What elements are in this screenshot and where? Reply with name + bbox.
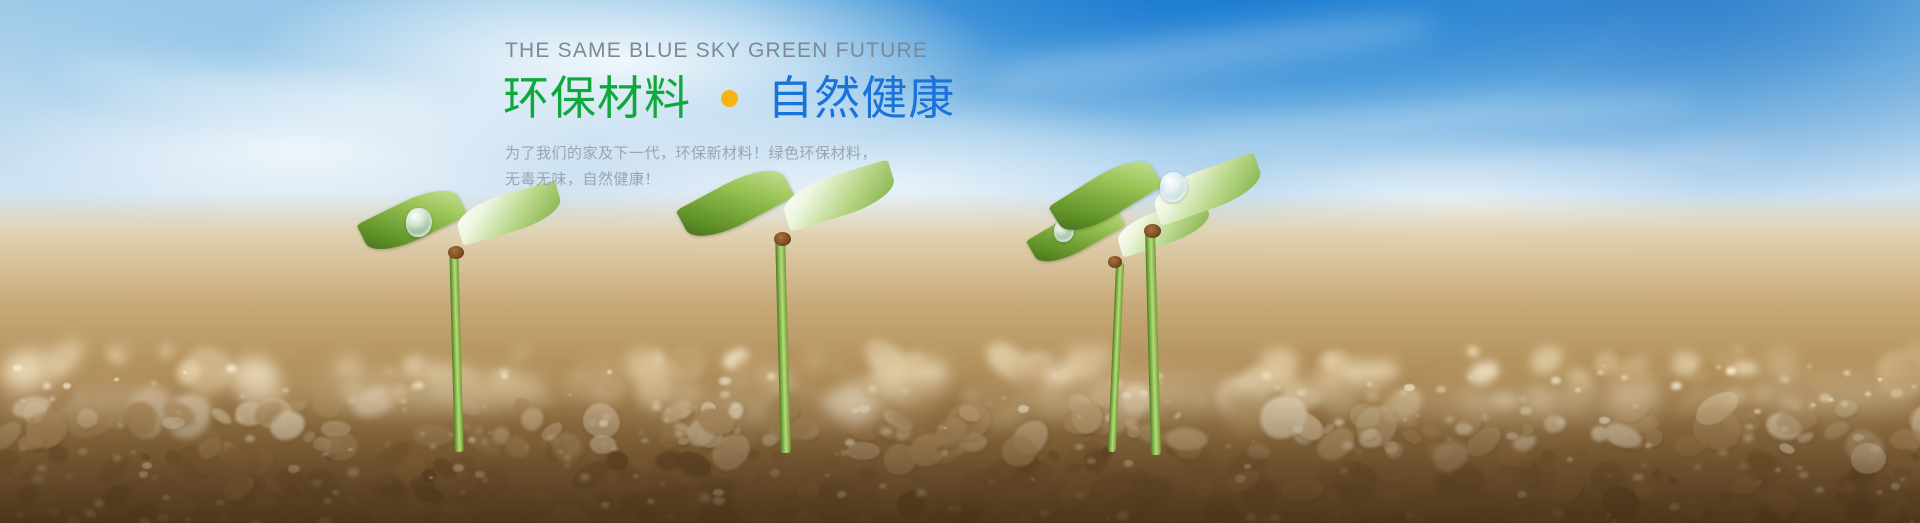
soil-speckle xyxy=(43,383,51,389)
soil-clod xyxy=(1349,398,1405,454)
soil-clod xyxy=(210,436,250,470)
soil-shadow xyxy=(0,373,1920,523)
soil-clod xyxy=(1364,358,1399,382)
soil-clod xyxy=(1908,442,1920,455)
soil-clod xyxy=(1744,446,1778,474)
soil-speckle xyxy=(660,483,665,487)
soil-speckle xyxy=(1621,375,1628,380)
soil-clod xyxy=(871,417,899,443)
soil-speckle xyxy=(568,394,572,397)
soil-speckle xyxy=(1669,503,1680,511)
soil-clod xyxy=(370,467,409,503)
soil-speckle xyxy=(1807,365,1812,368)
soil-speckle xyxy=(240,395,245,399)
soil-speckle xyxy=(1716,365,1721,369)
soil-speckle xyxy=(1671,382,1682,390)
soil-speckle xyxy=(1567,457,1573,461)
soil-clod xyxy=(1427,441,1453,460)
soil-clod xyxy=(220,471,259,506)
soil-speckle xyxy=(403,408,406,410)
soil-clod xyxy=(1365,389,1378,402)
soil-clod xyxy=(1531,510,1565,523)
banner-description-line-1: 为了我们的家及下一代，环保新材料！绿色环保材料， xyxy=(505,140,1023,166)
soil-speckle xyxy=(400,399,407,404)
soil-clod xyxy=(1364,383,1390,401)
soil-speckle xyxy=(868,386,877,393)
soil-clod xyxy=(20,398,50,426)
soil-clod xyxy=(160,397,197,428)
soil-speckle xyxy=(332,490,339,495)
soil-clod xyxy=(731,344,789,398)
soil-speckle xyxy=(1642,464,1646,467)
soil-clod xyxy=(1774,363,1799,387)
soil-clod xyxy=(1321,380,1336,394)
soil-clod xyxy=(1552,371,1603,420)
soil-speckle xyxy=(633,474,638,478)
soil-clod xyxy=(907,491,930,514)
soil-clod xyxy=(172,338,237,399)
soil-clod xyxy=(1806,518,1829,523)
soil-clod xyxy=(332,352,364,381)
soil-clod xyxy=(309,389,344,423)
soil-clod xyxy=(1446,459,1487,499)
soil-clod xyxy=(883,443,917,475)
soil-speckle xyxy=(719,377,731,385)
soil-clod xyxy=(1003,357,1052,402)
soil-clod xyxy=(389,384,409,403)
soil-speckle xyxy=(226,365,237,373)
soil-speckle xyxy=(1404,384,1415,392)
soil-speckle xyxy=(1139,390,1149,397)
soil-speckle xyxy=(1401,391,1406,394)
soil-clod xyxy=(855,509,873,523)
soil-clod xyxy=(190,415,201,424)
soil-clod xyxy=(643,479,689,521)
soil-clod xyxy=(1283,348,1322,383)
soil-clod xyxy=(1197,492,1243,523)
soil-clod xyxy=(1175,439,1222,481)
soil-speckle xyxy=(713,489,724,497)
soil-speckle xyxy=(881,428,892,436)
soil-speckle xyxy=(347,468,359,476)
soil-speckle xyxy=(63,383,71,389)
soil-speckle xyxy=(732,403,739,408)
soil-clod xyxy=(94,451,133,488)
soil-clod xyxy=(821,452,840,468)
soil-clod xyxy=(1368,442,1419,492)
soil-clod xyxy=(255,394,275,409)
soil-clod xyxy=(1535,440,1587,491)
soil-clod xyxy=(1343,516,1388,523)
soil-clod xyxy=(542,441,567,462)
soil-speckle xyxy=(607,370,612,374)
soil-clod xyxy=(156,341,178,361)
soil-clod xyxy=(1099,445,1113,459)
soil-clod xyxy=(240,363,292,409)
soil-speckle xyxy=(1810,403,1816,407)
soil-clod xyxy=(1046,348,1070,372)
soil-clod xyxy=(156,492,199,523)
soil-clod xyxy=(778,347,796,361)
soil-clod xyxy=(103,345,128,368)
soil-speckle xyxy=(692,406,696,409)
soil-speckle xyxy=(1878,378,1881,380)
soil-clod xyxy=(1379,409,1403,425)
soil-clod xyxy=(1882,452,1920,498)
soil-speckle xyxy=(1334,419,1344,426)
soil-clod xyxy=(1093,373,1137,411)
soil-speckle xyxy=(1367,382,1373,386)
soil-speckle xyxy=(1553,510,1564,517)
soil-speckle xyxy=(713,497,724,505)
soil-clod xyxy=(926,431,967,468)
soil-clod xyxy=(1466,345,1480,359)
soil-clod xyxy=(1653,457,1673,476)
soil-clod xyxy=(1078,444,1112,477)
soil-speckle xyxy=(1122,392,1132,399)
soil-speckle xyxy=(324,498,332,504)
soil-clod xyxy=(264,502,302,523)
soil-clod xyxy=(1016,453,1039,472)
soil-clod xyxy=(1173,411,1183,420)
soil-speckle xyxy=(526,494,529,496)
soil-clod xyxy=(30,368,82,419)
soil-clod xyxy=(1721,387,1743,404)
soil-clod xyxy=(1289,407,1329,446)
soil-clod xyxy=(749,495,758,502)
soil-clod xyxy=(1087,414,1100,426)
soil-clod xyxy=(495,518,545,523)
soil-speckle xyxy=(558,450,563,453)
soil-clod xyxy=(530,508,573,523)
soil-clod xyxy=(1908,500,1920,523)
soil-clod xyxy=(695,404,738,440)
soil-clod xyxy=(289,485,302,497)
soil-clod xyxy=(902,349,927,373)
soil-clod xyxy=(1481,462,1501,481)
soil-clod xyxy=(1163,398,1173,406)
soil-speckle xyxy=(934,504,938,507)
soil-clod xyxy=(209,515,267,523)
soil-clod xyxy=(1510,391,1548,423)
soil-speckle xyxy=(1718,449,1728,456)
soil-clod xyxy=(1731,360,1759,376)
soil-clod xyxy=(1465,357,1503,389)
soil-clod xyxy=(817,476,851,509)
soil-speckle xyxy=(459,490,466,495)
soil-clod xyxy=(1165,443,1182,459)
soil-clod xyxy=(638,446,680,477)
soil-clod xyxy=(443,505,459,514)
soil-clod xyxy=(955,402,982,426)
soil-clod xyxy=(451,503,466,515)
soil-clod xyxy=(1389,508,1412,523)
soil-speckle xyxy=(639,431,643,434)
soil-speckle xyxy=(1782,516,1786,518)
soil-clod xyxy=(254,492,277,512)
soil-speckle xyxy=(664,418,669,421)
soil-clod xyxy=(55,508,64,515)
soil-clod xyxy=(632,456,654,478)
soil-speckle xyxy=(1246,514,1257,522)
soil-clod xyxy=(705,427,757,477)
soil-clod xyxy=(1692,371,1712,383)
soil-speckle xyxy=(959,450,964,453)
soil-clod xyxy=(349,381,402,421)
soil-clod xyxy=(968,385,1030,435)
soil-speckle xyxy=(429,476,433,479)
soil-speckle xyxy=(1865,392,1872,397)
soil-clod xyxy=(621,495,636,509)
soil-speckle xyxy=(1226,445,1231,448)
orange-dot-icon xyxy=(721,90,738,107)
soil-speckle xyxy=(1575,388,1581,392)
soil-clod xyxy=(1673,434,1708,458)
soil-clod xyxy=(1589,423,1611,443)
soil-clod xyxy=(30,406,39,411)
soil-clod xyxy=(431,499,476,523)
soil-clod xyxy=(235,402,266,425)
soil-clod xyxy=(121,460,148,486)
soil-clod xyxy=(795,422,820,438)
soil-clod xyxy=(1451,386,1497,422)
soil-clod xyxy=(48,339,87,375)
soil-clod xyxy=(1061,337,1118,388)
soil-clod xyxy=(568,455,614,494)
soil-clod xyxy=(418,360,446,385)
soil-speckle xyxy=(1052,373,1057,376)
soil-clod xyxy=(1621,430,1635,442)
soil-clod xyxy=(408,473,439,499)
soil-clod xyxy=(823,504,842,520)
soil-clod xyxy=(65,404,117,441)
soil-clod xyxy=(23,408,69,451)
soil-clod xyxy=(1209,502,1228,514)
banner-description-line-2: 无毒无味，自然健康！ xyxy=(505,166,1023,192)
soil-clod xyxy=(1344,460,1357,470)
soil-speckle xyxy=(502,374,508,378)
soil-clod xyxy=(223,348,284,407)
soil-clod xyxy=(1558,505,1586,523)
soil-clod xyxy=(179,342,237,399)
soil-clod xyxy=(694,420,727,452)
soil-clod xyxy=(927,509,952,523)
soil-clod xyxy=(1843,514,1869,523)
soil-clod xyxy=(398,351,427,379)
soil-clod xyxy=(1099,470,1136,494)
soil-clod xyxy=(1911,452,1920,458)
soil-speckle xyxy=(1754,409,1761,414)
soil-clod xyxy=(1162,423,1207,465)
soil-speckle xyxy=(177,411,180,413)
soil-clod xyxy=(1731,369,1747,383)
soil-speckle xyxy=(312,480,322,487)
soil-clod xyxy=(1604,358,1651,401)
soil-speckle xyxy=(33,475,44,483)
soil-clod xyxy=(1044,504,1057,515)
soil-clod xyxy=(393,503,429,523)
soil-clod xyxy=(944,400,994,443)
soil-clod xyxy=(414,484,446,506)
soil-speckle xyxy=(602,443,607,446)
soil-clod xyxy=(158,384,222,447)
soil-clod xyxy=(777,481,794,498)
soil-clod xyxy=(1752,500,1798,523)
soil-clod xyxy=(517,403,548,434)
soil-speckle xyxy=(1645,443,1652,448)
soil-clod xyxy=(1192,517,1231,523)
soil-clod xyxy=(119,395,162,438)
soil-clod xyxy=(1683,355,1692,363)
soil-clod xyxy=(1842,477,1860,494)
soil-clod xyxy=(419,467,437,484)
soil-clod xyxy=(283,451,318,483)
soil-speckle xyxy=(565,456,571,460)
soil-speckle xyxy=(543,443,546,445)
soil-speckle xyxy=(197,446,202,449)
soil-speckle xyxy=(599,420,608,426)
soil-speckle xyxy=(1891,389,1903,397)
soil-speckle xyxy=(1087,458,1096,464)
soil-clod xyxy=(1544,414,1567,434)
soil-clod xyxy=(559,360,569,370)
soil-clod xyxy=(1915,346,1920,364)
soil-clod xyxy=(1361,426,1380,442)
soil-clod xyxy=(250,395,285,428)
soil-clod xyxy=(1718,356,1734,370)
soil-clod xyxy=(1414,370,1478,432)
soil-clod xyxy=(908,428,934,448)
soil-clod xyxy=(1595,509,1607,520)
soil-clod xyxy=(931,496,946,510)
soil-speckle xyxy=(1781,426,1789,432)
soil-clod xyxy=(1672,356,1699,377)
soil-clod xyxy=(384,367,397,377)
soil-clod xyxy=(1604,414,1648,454)
soil-speckle xyxy=(601,502,610,508)
soil-speckle xyxy=(1156,374,1163,379)
soil-speckle xyxy=(499,369,509,376)
soil-clod xyxy=(1389,499,1426,523)
soil-clod xyxy=(294,511,333,523)
soil-clod xyxy=(1584,453,1633,501)
soil-clod xyxy=(1776,407,1819,433)
soil-clod xyxy=(1834,399,1859,419)
soil-speckle xyxy=(1356,450,1362,454)
soil-clod xyxy=(1725,386,1750,408)
soil-clod xyxy=(577,396,627,446)
soil-clod xyxy=(1894,491,1920,519)
soil-clod xyxy=(163,447,182,466)
soil-clod xyxy=(1400,426,1424,448)
soil-speckle xyxy=(1748,435,1753,438)
soil-speckle xyxy=(654,401,659,405)
soil-speckle xyxy=(1891,483,1900,489)
soil-clod xyxy=(224,468,269,511)
soil-speckle xyxy=(602,414,612,421)
soil-clod xyxy=(888,376,914,402)
soil-clod xyxy=(90,481,103,494)
soil-clod xyxy=(882,389,909,415)
soil-speckle xyxy=(1745,424,1755,431)
soil-speckle xyxy=(835,453,838,455)
soil-speckle xyxy=(1623,433,1628,436)
soil-clod xyxy=(1751,386,1774,404)
soil-clod xyxy=(742,466,761,484)
soil-clod xyxy=(1348,401,1383,430)
soil-clod xyxy=(768,412,803,443)
soil-clod xyxy=(867,355,908,394)
soil-clod xyxy=(1564,364,1595,392)
soil-clod xyxy=(1803,377,1851,409)
soil-clod xyxy=(357,453,400,492)
soil-clod xyxy=(1663,516,1690,523)
soil-clod xyxy=(530,485,559,513)
soil-blur-band xyxy=(0,363,1920,483)
soil-clod xyxy=(1046,448,1062,462)
soil-speckle xyxy=(1743,435,1753,442)
soil-clod xyxy=(1615,363,1630,378)
soil-clod xyxy=(1265,356,1308,396)
headline-green-text: 环保材料 xyxy=(503,71,691,125)
soil-speckle xyxy=(1446,417,1453,422)
soil-clod xyxy=(1869,503,1917,523)
soil-speckle xyxy=(1844,371,1850,375)
soil-speckle xyxy=(475,471,485,478)
soil-speckle xyxy=(475,427,483,433)
soil-clod xyxy=(404,497,438,521)
soil-speckle xyxy=(67,475,73,479)
soil-clod xyxy=(1873,350,1915,385)
soil-speckle xyxy=(1294,400,1300,404)
soil-speckle xyxy=(1040,510,1050,517)
soil-clod xyxy=(514,397,531,412)
soil-clod xyxy=(1745,410,1758,420)
soil-clod xyxy=(702,426,722,444)
soil-clod xyxy=(187,443,226,482)
soil-speckle xyxy=(236,416,245,422)
soil-speckle xyxy=(183,371,187,374)
soil-clod xyxy=(932,412,973,448)
soil-clod xyxy=(1687,382,1737,412)
soil-clod xyxy=(1600,382,1664,441)
soil-clod xyxy=(523,513,562,523)
soil-clod xyxy=(95,512,141,523)
soil-clod xyxy=(1314,386,1331,400)
soil-clod xyxy=(1323,386,1358,417)
soil-speckle xyxy=(1506,432,1518,440)
soil-speckle xyxy=(410,386,416,390)
soil-speckle xyxy=(1374,385,1379,388)
soil-clod xyxy=(196,387,220,408)
soil-speckle xyxy=(13,365,21,371)
soil-clod xyxy=(1538,448,1557,467)
soil-speckle xyxy=(1387,448,1397,455)
soil-clod xyxy=(1404,513,1433,523)
soil-clod xyxy=(402,484,441,520)
soil-clod xyxy=(694,498,742,523)
soil-speckle xyxy=(1252,440,1255,442)
soil-speckle xyxy=(49,509,59,516)
soil-speckle xyxy=(17,512,23,516)
soil-clod xyxy=(959,433,988,453)
soil-clod xyxy=(228,376,248,391)
soil-clod xyxy=(13,481,42,510)
soil-clod xyxy=(1386,441,1404,458)
soil-clod xyxy=(720,345,753,373)
soil-speckle xyxy=(1117,429,1122,433)
soil-clod xyxy=(667,353,710,394)
